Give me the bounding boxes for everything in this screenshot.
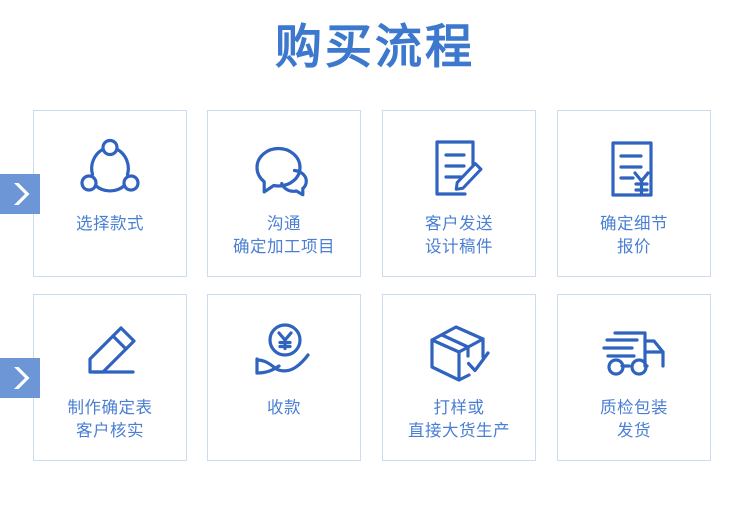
process-step-card[interactable]: 客户发送 设计稿件	[382, 110, 536, 277]
label-line-1: 沟通	[267, 215, 301, 233]
process-step-label: 确定细节 报价	[558, 213, 710, 259]
label-line-2: 直接大货生产	[383, 420, 535, 443]
process-step-label: 选择款式	[34, 213, 186, 236]
process-step-label: 质检包装 发货	[558, 397, 710, 443]
label-line-1: 客户发送	[425, 215, 493, 233]
label-line-2: 设计稿件	[383, 236, 535, 259]
hand-yuan-coin-icon	[208, 315, 360, 391]
label-line-1: 质检包装	[600, 399, 668, 417]
process-step-label: 制作确定表 客户核实	[34, 397, 186, 443]
page-title: 购买流程	[0, 18, 750, 76]
process-row-2: 制作确定表 客户核实	[0, 294, 750, 469]
pencil-icon	[34, 315, 186, 391]
process-step-label: 打样或 直接大货生产	[383, 397, 535, 443]
label-line-2: 报价	[558, 236, 710, 259]
box-check-icon	[383, 315, 535, 391]
process-step-card[interactable]: 选择款式	[33, 110, 187, 277]
process-step-card[interactable]: 沟通 确定加工项目	[207, 110, 361, 277]
share-network-icon	[34, 131, 186, 207]
process-step-card[interactable]: 打样或 直接大货生产	[382, 294, 536, 461]
label-line-2: 发货	[558, 420, 710, 443]
process-step-label: 收款	[208, 397, 360, 420]
document-yuan-icon	[558, 131, 710, 207]
process-step-card[interactable]: 收款	[207, 294, 361, 461]
delivery-truck-icon	[558, 315, 710, 391]
label-line-1: 选择款式	[76, 215, 144, 233]
purchase-process-infographic: 购买流程 选择款式	[0, 0, 750, 522]
process-step-card[interactable]: 确定细节 报价	[557, 110, 711, 277]
document-pen-icon	[383, 131, 535, 207]
process-step-card[interactable]: 制作确定表 客户核实	[33, 294, 187, 461]
label-line-1: 制作确定表	[68, 399, 153, 417]
process-row-1: 选择款式 沟通 确定加工项目	[0, 110, 750, 285]
process-step-label: 客户发送 设计稿件	[383, 213, 535, 259]
chevron-right-icon	[0, 174, 40, 214]
label-line-2: 客户核实	[34, 420, 186, 443]
chevron-right-icon	[0, 358, 40, 398]
label-line-1: 收款	[267, 399, 301, 417]
process-step-card[interactable]: 质检包装 发货	[557, 294, 711, 461]
label-line-2: 确定加工项目	[208, 236, 360, 259]
chat-bubbles-icon	[208, 131, 360, 207]
label-line-1: 确定细节	[600, 215, 668, 233]
label-line-1: 打样或	[434, 399, 485, 417]
process-step-label: 沟通 确定加工项目	[208, 213, 360, 259]
